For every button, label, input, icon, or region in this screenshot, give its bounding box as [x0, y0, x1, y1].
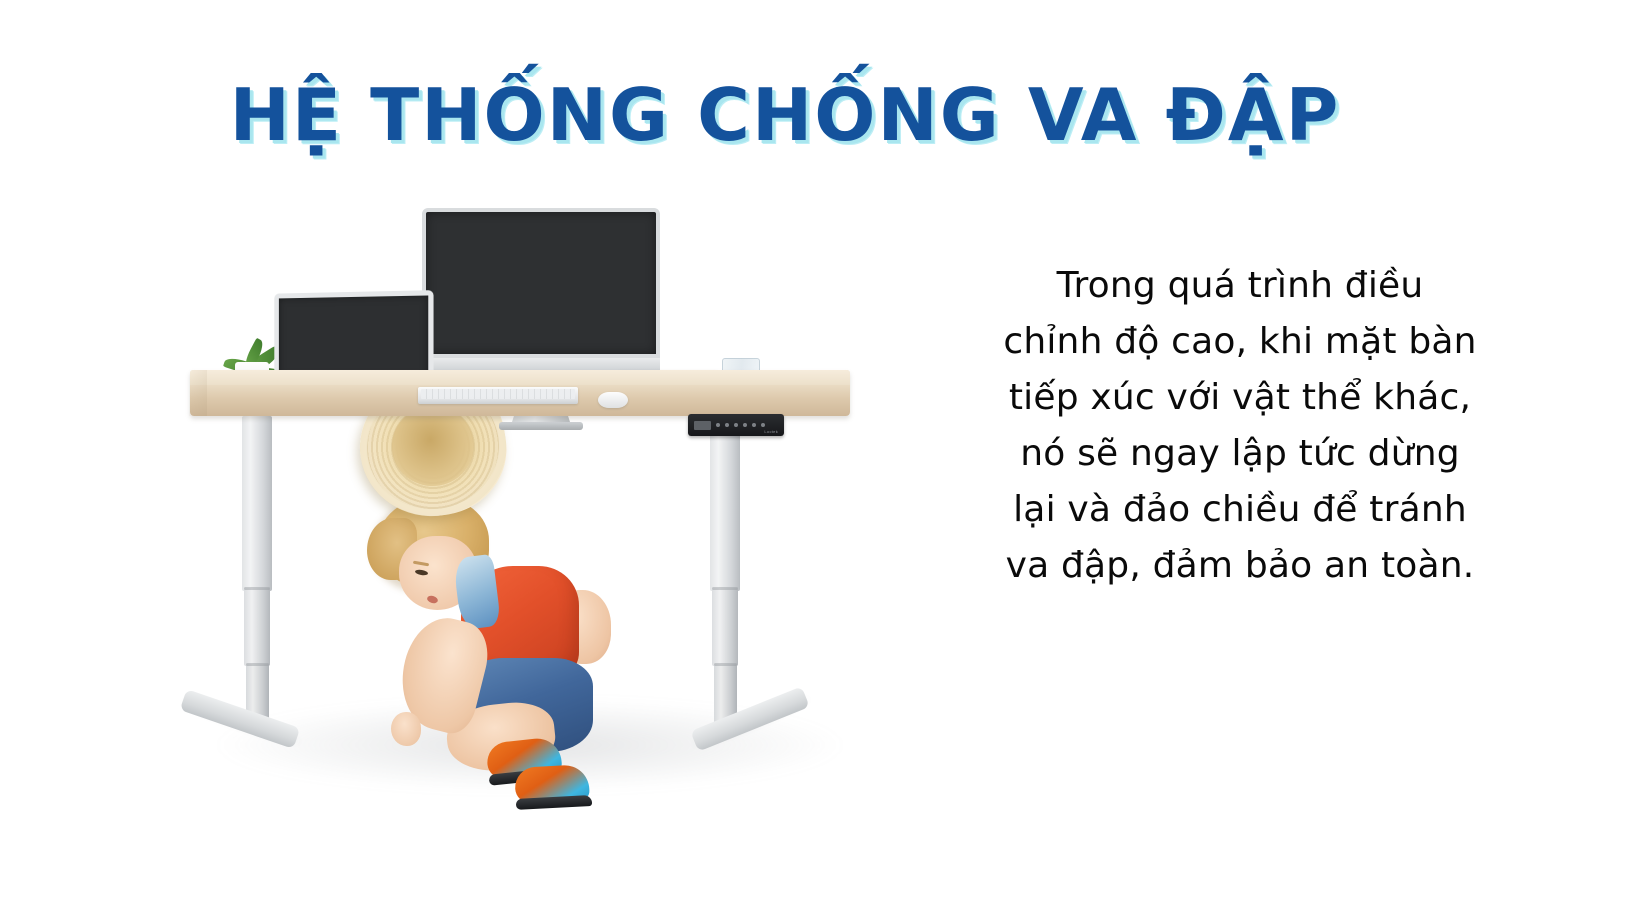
- height-control-panel[interactable]: Loctek: [688, 414, 784, 436]
- description-line: lại và đảo chiều để tránh: [960, 482, 1520, 538]
- control-panel-preset-3[interactable]: [752, 423, 756, 427]
- description-line: Trong quá trình điều: [960, 258, 1520, 314]
- control-panel-preset-2[interactable]: [743, 423, 747, 427]
- control-panel-brand: Loctek: [764, 429, 778, 434]
- control-panel-preset-1[interactable]: [734, 423, 738, 427]
- product-scene-image: Loctek: [150, 180, 870, 800]
- mouse: [598, 392, 628, 408]
- control-panel-memory[interactable]: [761, 423, 765, 427]
- leg-joint: [246, 663, 269, 666]
- control-panel-button-up[interactable]: [716, 423, 720, 427]
- leg-joint: [244, 587, 270, 590]
- description-line: tiếp xúc với vật thể khác,: [960, 370, 1520, 426]
- leg-segment-middle: [244, 588, 270, 666]
- description-line: nó sẽ ngay lập tức dừng: [960, 426, 1520, 482]
- monitor-stand-base: [499, 422, 583, 430]
- leg-segment-middle: [712, 588, 738, 666]
- keyboard: [418, 387, 578, 404]
- leg-segment-upper: [242, 416, 272, 591]
- description-line: chỉnh độ cao, khi mặt bàn: [960, 314, 1520, 370]
- child-figure: [365, 490, 655, 790]
- poster-canvas: HỆ THỐNG CHỐNG VA ĐẬP Trong quá trình đi…: [0, 0, 1640, 924]
- desktop-monitor: [422, 208, 660, 381]
- leg-joint: [712, 587, 738, 590]
- monitor-screen: [422, 208, 660, 358]
- control-panel-button-down[interactable]: [725, 423, 729, 427]
- control-panel-display: [694, 421, 711, 430]
- leg-segment-upper: [710, 416, 740, 591]
- page-title: HỆ THỐNG CHỐNG VA ĐẬP: [0, 78, 1570, 154]
- description-line: va đập, đảm bảo an toàn.: [960, 538, 1520, 594]
- description-paragraph: Trong quá trình điều chỉnh độ cao, khi m…: [960, 258, 1520, 594]
- leg-joint: [714, 663, 737, 666]
- child-shoe: [514, 764, 590, 804]
- child-hand: [391, 712, 421, 746]
